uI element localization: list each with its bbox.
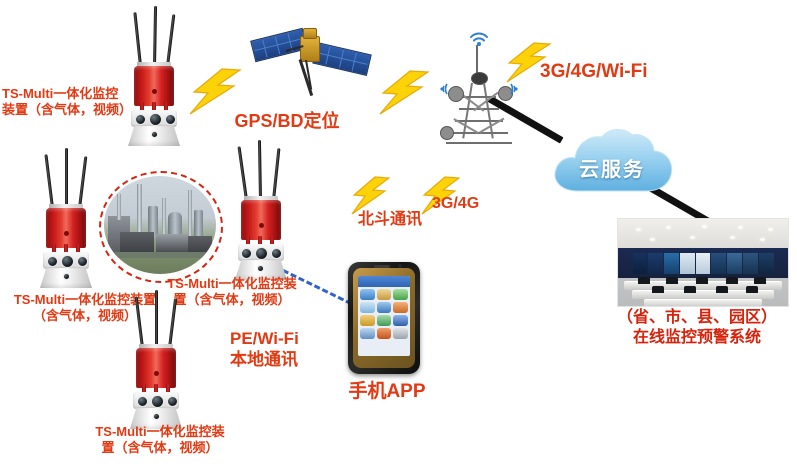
device-center (215, 140, 307, 280)
device-top-left-label: TS-Multi一体化监控 装置（含气体，视频） (2, 86, 142, 119)
cloud-service-label: 云服务 (548, 153, 676, 182)
camera-lens (47, 256, 58, 267)
tower-top-dome (471, 72, 488, 85)
camera-lens (167, 396, 178, 407)
app-icon (377, 289, 392, 300)
app-icon (393, 315, 408, 326)
satellite-body (300, 36, 320, 62)
video-wall (632, 253, 774, 274)
satellite-panel-right (312, 42, 372, 76)
diagram-canvas: 云服务 (0, 0, 797, 464)
camera-lens (255, 247, 268, 260)
app-icon (360, 315, 375, 326)
tower-dish-left (448, 86, 464, 102)
device-mid-left (20, 148, 112, 288)
sensor-port (257, 265, 264, 272)
gps-link-label: GPS/BD定位 (222, 110, 352, 133)
device-bottom-left (110, 290, 202, 430)
cloud-service-node: 云服务 (548, 125, 676, 197)
bolt-satellite-to-tower (378, 70, 432, 116)
camera-lens (151, 395, 164, 408)
app-icon (360, 328, 375, 339)
sensor-port (151, 131, 158, 138)
camera-lens (61, 255, 74, 268)
camera-lens (77, 256, 88, 267)
tower-signal-icon-left (434, 82, 450, 101)
mobile-app-device[interactable] (348, 262, 420, 374)
tower-link-label: 3G/4G/Wi-Fi (540, 60, 680, 84)
app-icon (393, 302, 408, 313)
tower-signal-icon-top (468, 30, 490, 51)
control-room-label: （省、市、县、园区） 在线监控预警系统 (597, 308, 797, 348)
tower-signal-icon-right (508, 82, 524, 101)
plant-highlight-circle (99, 171, 223, 283)
app-icon (377, 328, 392, 339)
camera-lens (149, 113, 162, 126)
app-icon (393, 328, 408, 339)
device-bottom-left-label: TS-Multi一体化监控装 置（含气体，视频） (60, 424, 260, 457)
satellite-node (250, 14, 370, 106)
mobile-app-label: 手机APP (332, 380, 442, 404)
app-icon-grid[interactable] (360, 289, 408, 339)
control-room-photo (617, 218, 789, 307)
camera-lens (271, 248, 282, 259)
app-icon (377, 315, 392, 326)
app-title-bar (358, 276, 410, 287)
app-screen[interactable] (358, 276, 410, 356)
app-icon (393, 289, 408, 300)
tower-dish-lower (440, 126, 454, 140)
camera-lens (165, 114, 176, 125)
app-icon (377, 302, 392, 313)
local-link-label: PE/Wi-Fi 本地通讯 (230, 328, 350, 371)
app-icon (360, 302, 375, 313)
sensor-port (153, 413, 160, 420)
mobile-link-label: 3G/4G (432, 194, 502, 214)
camera-lens (241, 248, 252, 259)
app-icon (360, 289, 375, 300)
sensor-port (63, 273, 70, 280)
satellite-top-module (303, 28, 317, 39)
device-top-left (108, 4, 200, 144)
camera-lens (137, 396, 148, 407)
